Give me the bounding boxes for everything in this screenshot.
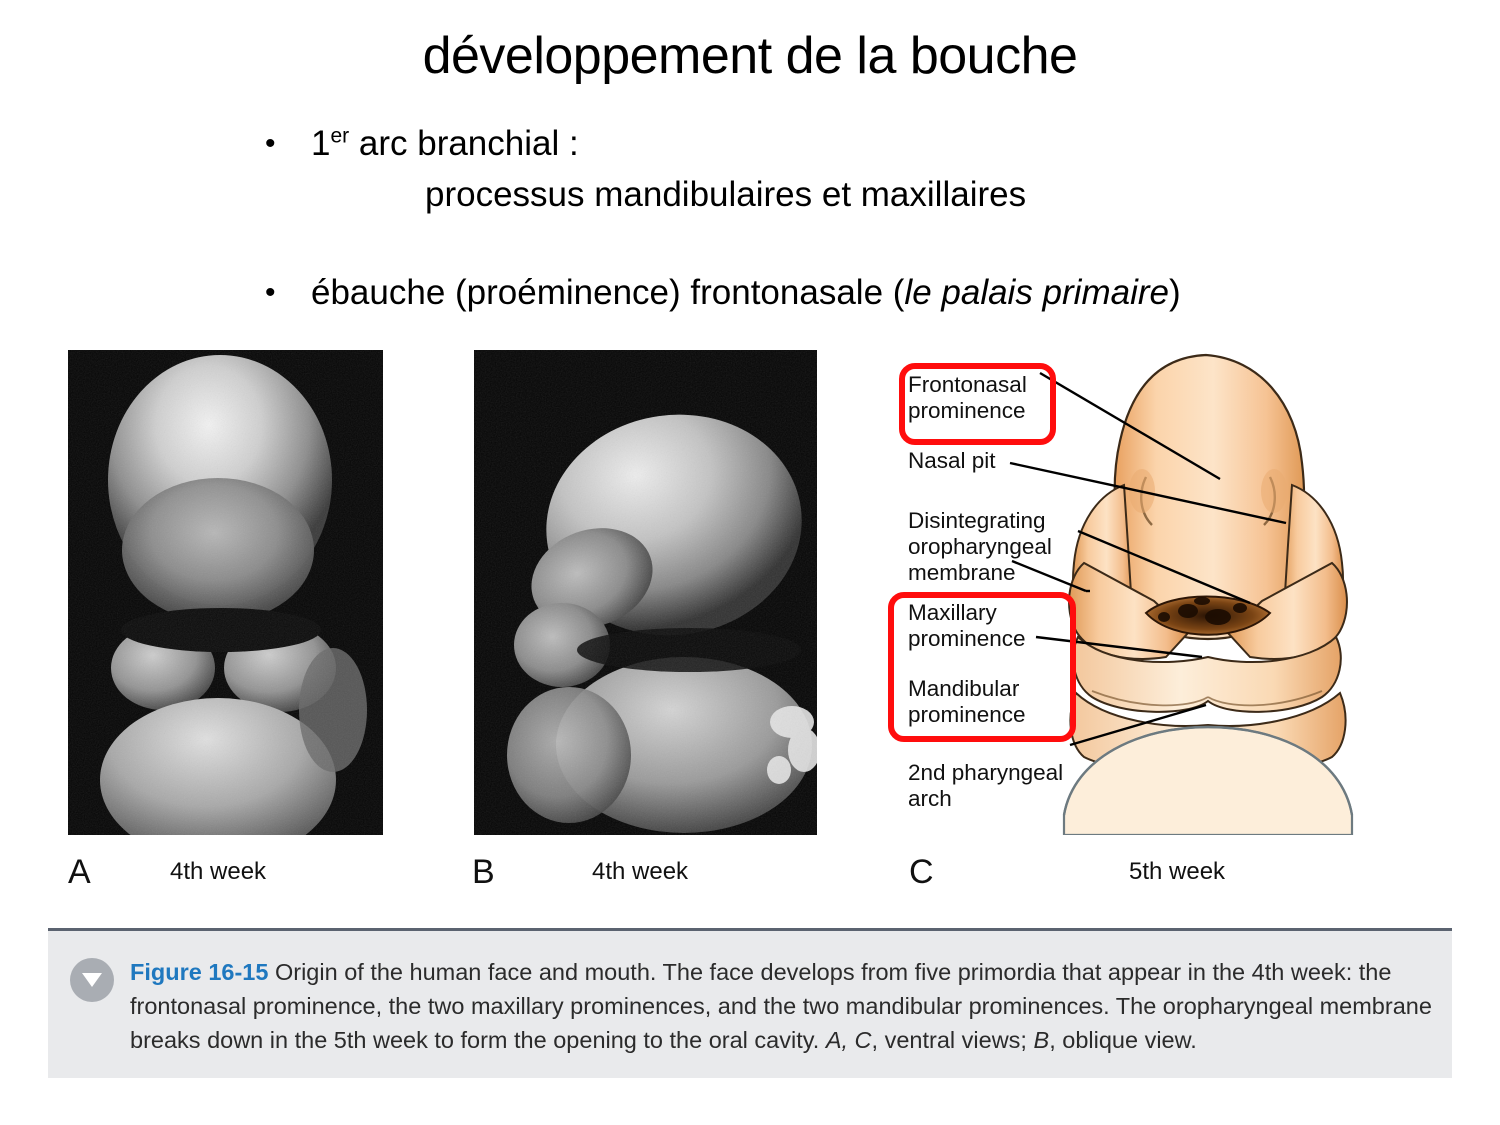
bullet-2-text: ébauche (proéminence) frontonasale (le p… bbox=[311, 272, 1415, 313]
bullet-2-italic: le palais primaire bbox=[904, 273, 1169, 312]
panel-letter-b: B bbox=[472, 853, 495, 892]
label-2nd-pharyngeal-arch: 2nd pharyngeal arch bbox=[908, 760, 1063, 812]
bullet-2-plain: ébauche (proéminence) frontonasale ( bbox=[311, 273, 904, 312]
bullet-item-2: • ébauche (proéminence) frontonasale (le… bbox=[265, 272, 1415, 313]
bullet-marker-icon: • bbox=[265, 272, 311, 313]
bullet-1-rest: arc branchial : bbox=[349, 124, 579, 163]
caption-italic-b: B bbox=[1034, 1027, 1050, 1053]
panel-a-micrograph bbox=[68, 350, 383, 835]
bullet-1-text: 1er arc branchial : bbox=[311, 123, 1415, 164]
figure-caption-text: Figure 16-15 Origin of the human face an… bbox=[130, 955, 1440, 1057]
label-nasal-pit: Nasal pit bbox=[908, 448, 996, 474]
caption-italic-ac: A, C bbox=[826, 1027, 872, 1053]
caption-mid: , ventral views; bbox=[872, 1027, 1034, 1053]
caption-tail: , oblique view. bbox=[1049, 1027, 1197, 1053]
figure-caption-box: Figure 16-15 Origin of the human face an… bbox=[48, 928, 1452, 1078]
panel-letter-a: A bbox=[68, 853, 91, 892]
page-title: développement de la bouche bbox=[0, 26, 1500, 86]
bullet-1-subline: processus mandibulaires et maxillaires bbox=[265, 174, 1415, 215]
panel-week-a: 4th week bbox=[170, 858, 266, 886]
panel-week-b: 4th week bbox=[592, 858, 688, 886]
sem-image-a bbox=[68, 350, 383, 835]
bullet-marker-icon: • bbox=[265, 123, 311, 164]
bullet-2-tail: ) bbox=[1169, 273, 1181, 312]
panel-b-micrograph bbox=[474, 350, 817, 835]
bullet-1-lead: 1 bbox=[311, 124, 330, 163]
sem-image-b bbox=[474, 350, 817, 835]
caption-body-1: Origin of the human face and mouth. The … bbox=[130, 959, 1432, 1053]
highlight-box-maxillary-mandibular bbox=[888, 592, 1076, 742]
label-oropharyngeal-membrane: Disintegrating oropharyngeal membrane bbox=[908, 508, 1052, 586]
caption-triangle-icon bbox=[70, 958, 114, 1002]
highlight-box-frontonasal bbox=[899, 363, 1056, 445]
panel-letter-c: C bbox=[909, 853, 934, 892]
figure-number: Figure 16-15 bbox=[130, 959, 268, 985]
bullet-1-superscript: er bbox=[330, 124, 349, 147]
bullet-item-1: • 1er arc branchial : processus mandibul… bbox=[265, 123, 1415, 216]
panel-week-c: 5th week bbox=[1129, 858, 1225, 886]
